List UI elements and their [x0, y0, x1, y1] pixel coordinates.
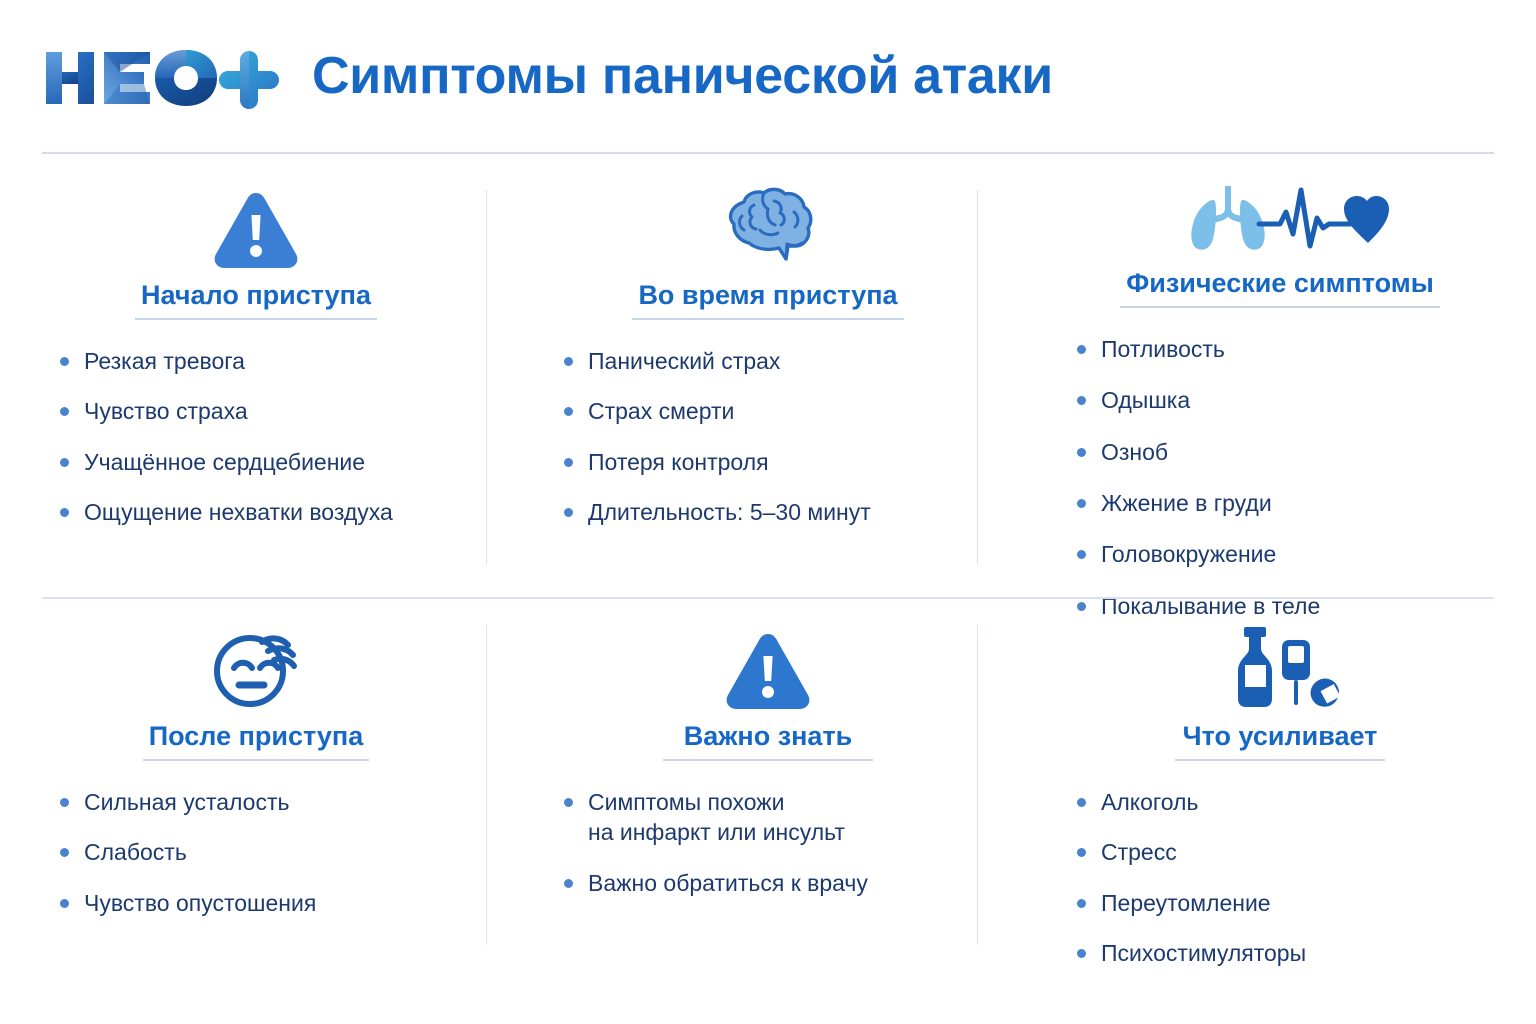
- symptom-list: Потливость Одышка Озноб Жжение в груди Г…: [1039, 334, 1521, 642]
- list-item: Учащённое сердцебиение: [60, 447, 365, 477]
- bullet-icon: [60, 899, 69, 908]
- bullet-icon: [564, 357, 573, 366]
- bullet-icon: [60, 508, 69, 517]
- bullet-icon: [1077, 848, 1086, 857]
- card-after-attack: После приступа Сильная усталость Слабост…: [0, 597, 512, 1024]
- bullet-icon: [60, 848, 69, 857]
- list-item: Страх смерти: [564, 396, 734, 426]
- bullet-icon: [1077, 345, 1086, 354]
- bullet-icon: [1077, 448, 1086, 457]
- column-divider-1: [486, 190, 487, 565]
- column-divider-2: [977, 190, 978, 565]
- brain-icon: [716, 184, 820, 268]
- card-heading-text: После приступа: [143, 721, 370, 759]
- bullet-icon: [1077, 396, 1086, 405]
- bullet-icon: [564, 458, 573, 467]
- card-heading-block: После приступа: [143, 721, 370, 761]
- list-item: Ощущение нехватки воздуха: [60, 497, 393, 527]
- list-item: Алкоголь: [1077, 787, 1198, 817]
- tired-face-icon: [208, 627, 304, 709]
- symptom-list: Сильная усталость Слабость Чувство опуст…: [8, 787, 504, 938]
- list-item: Симптомы похожи на инфаркт или инсульт: [564, 787, 845, 848]
- page-title: Симптомы панической атаки: [312, 50, 1053, 102]
- card-what-worsens: Что усиливает Алкоголь Стресс Переутомле…: [1024, 597, 1536, 1024]
- heading-underline: [1175, 759, 1385, 761]
- symptom-list: Алкоголь Стресс Переутомление Психостиму…: [1039, 787, 1521, 988]
- list-item: Слабость: [60, 837, 187, 867]
- bullet-icon: [1077, 550, 1086, 559]
- bullet-icon: [564, 879, 573, 888]
- bullet-icon: [1077, 499, 1086, 508]
- heading-underline: [1120, 306, 1440, 308]
- warning-triangle-icon: [725, 627, 811, 709]
- bullet-icon: [564, 407, 573, 416]
- list-item: Потеря контроля: [564, 447, 769, 477]
- card-heading-text: Начало приступа: [135, 280, 377, 318]
- list-item: Чувство опустошения: [60, 888, 316, 918]
- heading-underline: [143, 759, 370, 761]
- list-item: Озноб: [1077, 437, 1168, 467]
- card-heading-block: Во время приступа: [632, 280, 903, 320]
- lungs-heartbeat-heart-icon: [1171, 184, 1389, 256]
- bullet-icon: [1077, 798, 1086, 807]
- bullet-icon: [564, 508, 573, 517]
- list-item: Психостимуляторы: [1077, 938, 1306, 968]
- heading-underline: [632, 318, 903, 320]
- list-item: Важно обратиться к врачу: [564, 868, 868, 898]
- cards-grid: Начало приступа Резкая тревога Чувство с…: [0, 154, 1536, 1024]
- symptom-list: Симптомы похожи на инфаркт или инсульт В…: [528, 787, 1008, 918]
- list-item: Головокружение: [1077, 539, 1276, 569]
- bullet-icon: [1077, 949, 1086, 958]
- card-heading-text: Важно знать: [678, 721, 859, 759]
- list-item: Чувство страха: [60, 396, 248, 426]
- list-item: Длительность: 5–30 минут: [564, 497, 871, 527]
- list-item: Жжение в груди: [1077, 488, 1272, 518]
- row-divider: [42, 597, 1494, 599]
- card-heading-block: Физические симптомы: [1120, 268, 1440, 308]
- bullet-icon: [60, 458, 69, 467]
- page-header: Симптомы панической атаки: [0, 0, 1536, 152]
- list-item: Резкая тревога: [60, 346, 245, 376]
- list-item: Одышка: [1077, 385, 1190, 415]
- card-important-to-know: Важно знать Симптомы похожи на инфаркт и…: [512, 597, 1024, 1024]
- list-item: Сильная усталость: [60, 787, 290, 817]
- neo-plus-logo: [42, 46, 282, 110]
- column-divider-4: [977, 625, 978, 945]
- bullet-icon: [1077, 899, 1086, 908]
- bullet-icon: [60, 407, 69, 416]
- card-heading-text: Во время приступа: [632, 280, 903, 318]
- symptom-list: Резкая тревога Чувство страха Учащённое …: [8, 346, 504, 547]
- bullet-icon: [60, 798, 69, 807]
- symptom-list: Панический страх Страх смерти Потеря кон…: [528, 346, 1008, 547]
- bullet-icon: [60, 357, 69, 366]
- heading-underline: [135, 318, 377, 320]
- card-during-attack: Во время приступа Панический страх Страх…: [512, 154, 1024, 597]
- column-divider-3: [486, 625, 487, 945]
- list-item: Стресс: [1077, 837, 1177, 867]
- card-start-of-attack: Начало приступа Резкая тревога Чувство с…: [0, 154, 512, 597]
- list-item: Потливость: [1077, 334, 1225, 364]
- heading-underline: [663, 759, 873, 761]
- card-heading-text: Физические симптомы: [1120, 268, 1440, 306]
- card-physical-symptoms: Физические симптомы Потливость Одышка Оз…: [1024, 154, 1536, 597]
- warning-triangle-icon: [213, 184, 299, 268]
- card-heading-block: Что усиливает: [1175, 721, 1385, 761]
- bullet-icon: [564, 798, 573, 807]
- list-item: Переутомление: [1077, 888, 1271, 918]
- list-item: Панический страх: [564, 346, 780, 376]
- card-heading-block: Важно знать: [663, 721, 873, 761]
- bottle-glass-pill-icon: [1220, 627, 1340, 709]
- card-heading-block: Начало приступа: [135, 280, 377, 320]
- card-heading-text: Что усиливает: [1177, 721, 1384, 759]
